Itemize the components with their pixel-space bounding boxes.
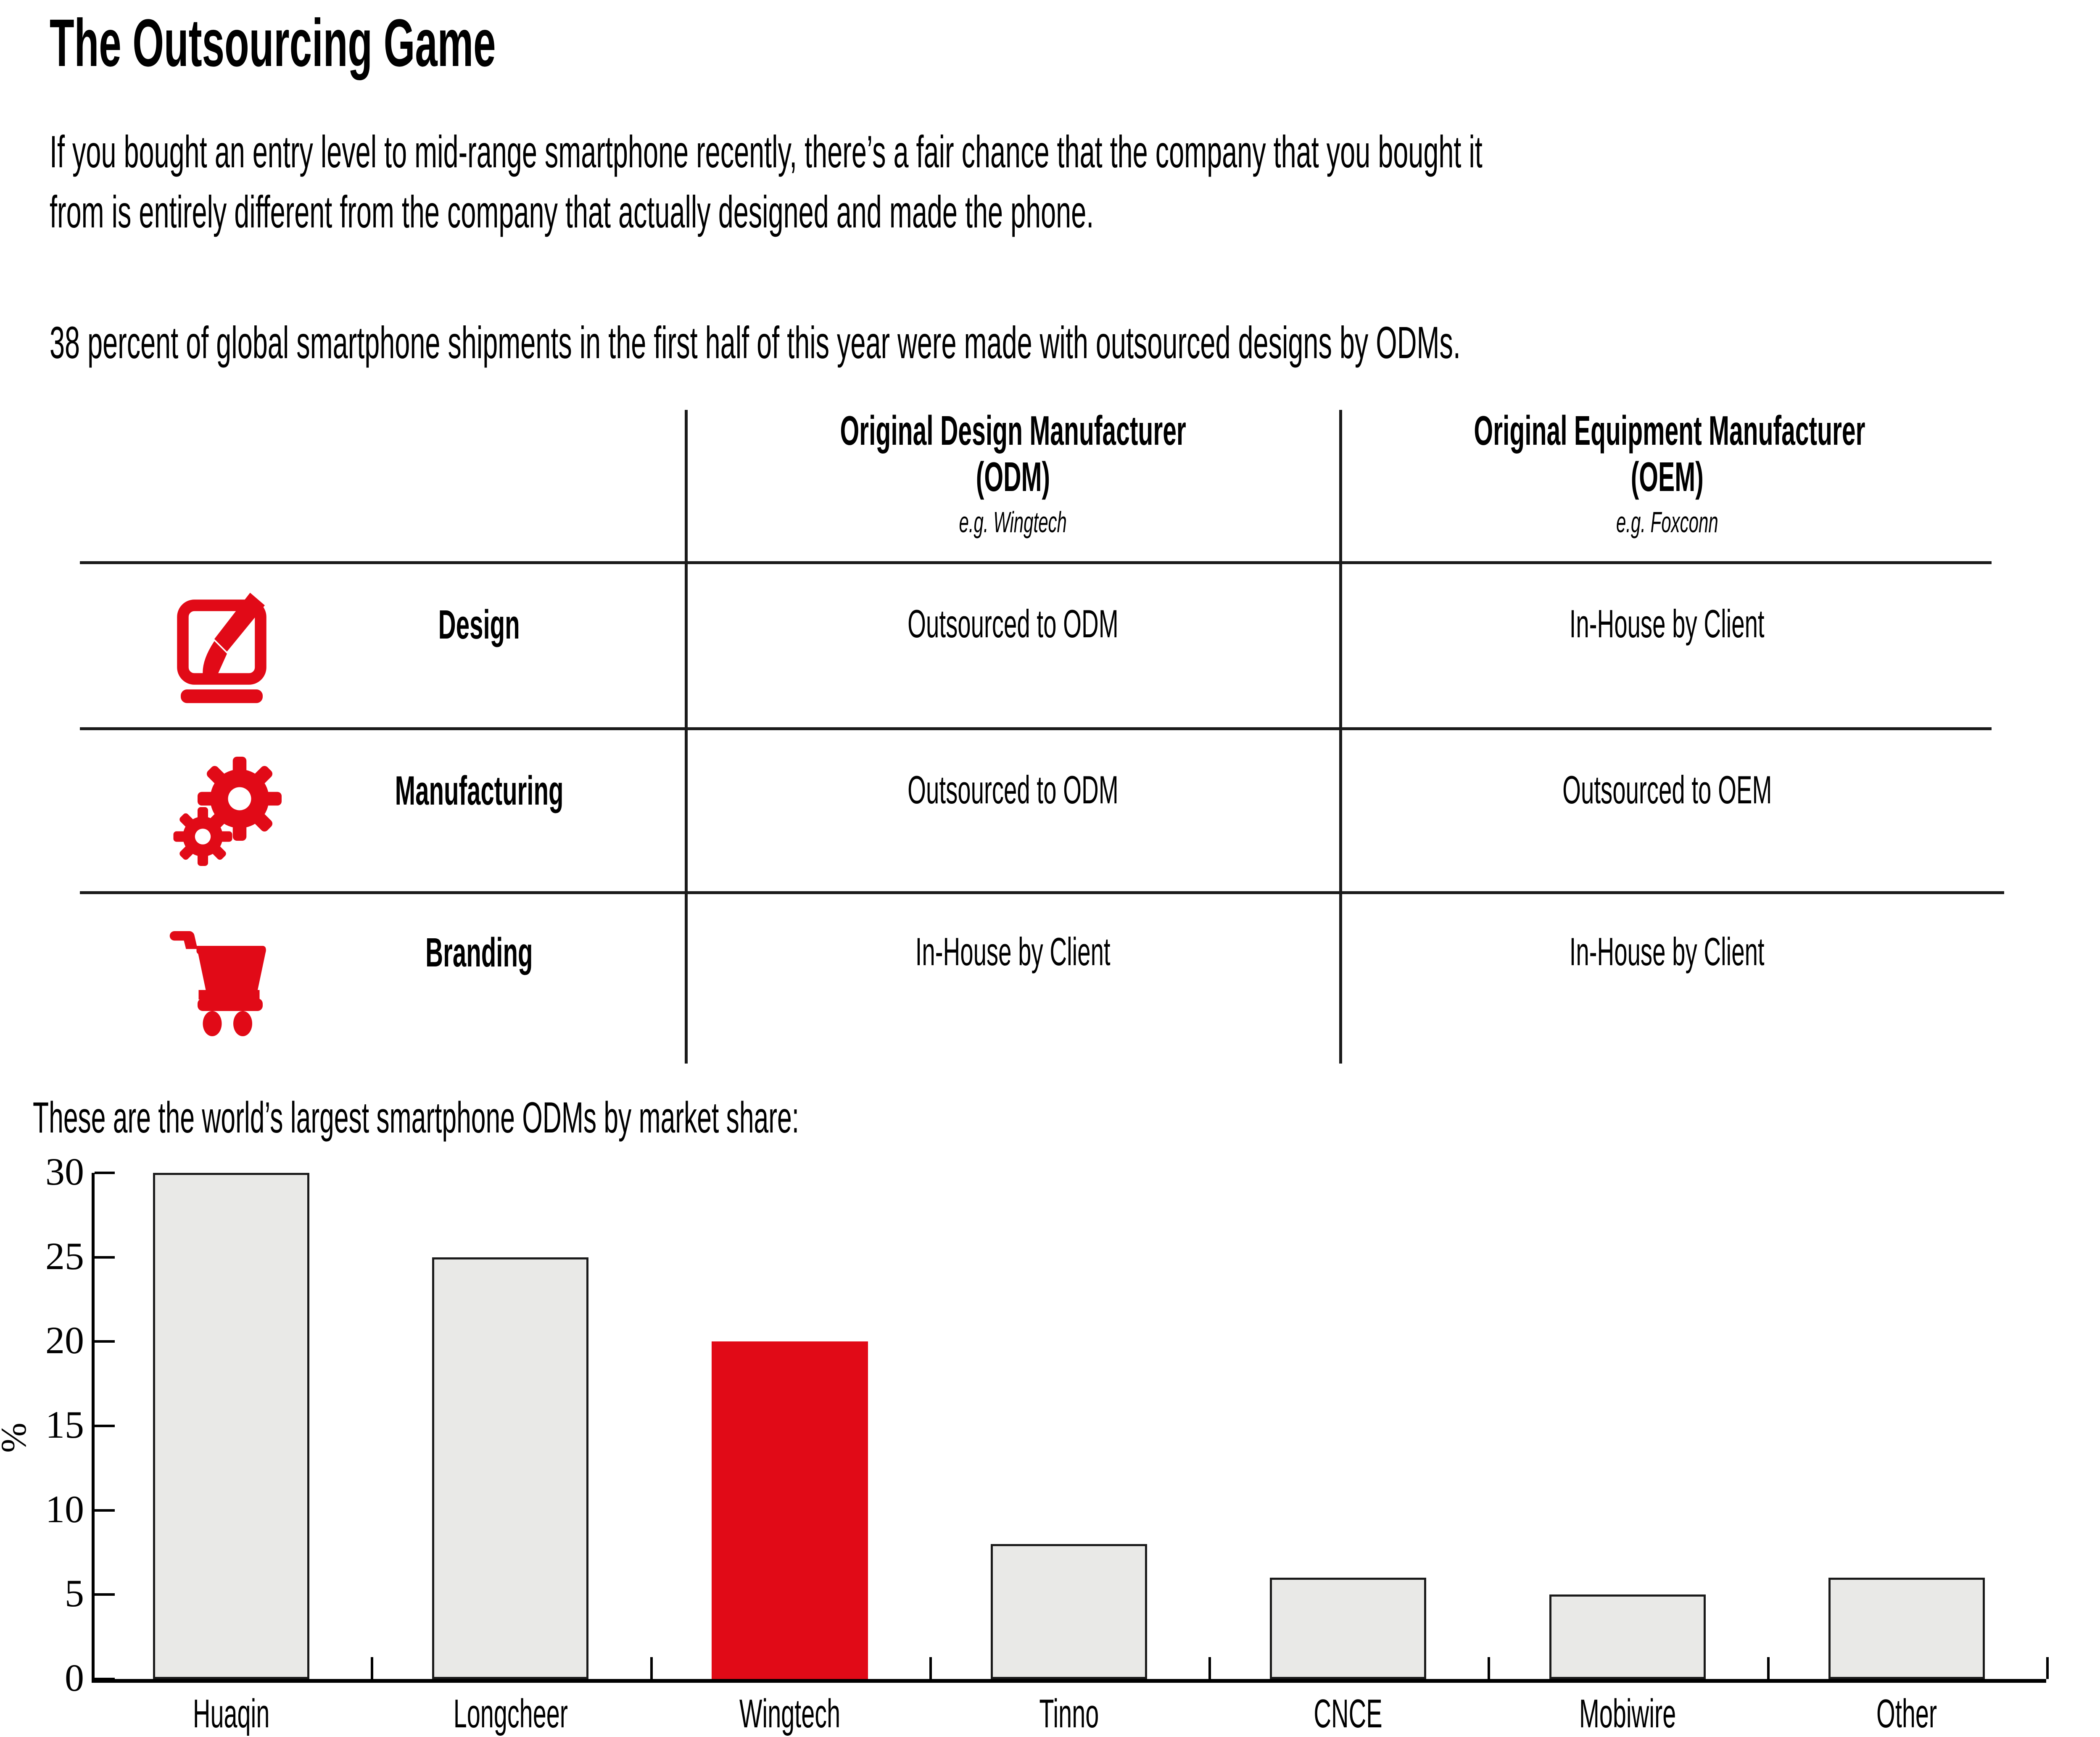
row-label-design: Design <box>319 601 639 648</box>
y-tick-25 <box>95 1256 115 1259</box>
lede-line-2: from is entirely different from the comp… <box>50 182 1094 242</box>
y-tick-label-25: 25 <box>0 1234 84 1278</box>
cell-design-odm: Outsourced to ODM <box>689 601 1337 647</box>
table-header-oem: Original Equipment Manufacturer (OEM) e.… <box>1343 408 1991 539</box>
cell-design-oem: In-House by Client <box>1343 601 1991 647</box>
x-tick-4 <box>1488 1657 1490 1679</box>
y-tick-20 <box>95 1340 115 1343</box>
y-tick-10 <box>95 1509 115 1512</box>
table-header-oem-example: e.g. Foxconn <box>1616 505 1718 539</box>
y-axis-line <box>92 1173 95 1682</box>
x-tick-1 <box>650 1657 653 1679</box>
table-column-divider-2 <box>1339 410 1342 1064</box>
x-axis-line <box>92 1679 2046 1683</box>
y-tick-label-15: 15 <box>0 1402 84 1447</box>
bar-cnce <box>1270 1578 1426 1679</box>
y-tick-label-10: 10 <box>0 1487 84 1531</box>
x-tick-5 <box>1767 1657 1770 1679</box>
cell-branding-odm-text: In-House by Client <box>915 929 1111 974</box>
bar-wingtech <box>712 1341 868 1679</box>
x-tick-label-text: Other <box>1876 1691 1937 1737</box>
x-tick-label-cnce: CNCE <box>1208 1691 1488 1737</box>
page-title-text: The Outsourcing Game <box>50 9 496 77</box>
y-tick-label-0: 0 <box>0 1655 84 1700</box>
x-tick-end <box>2046 1657 2049 1679</box>
x-tick-label-text: Mobiwire <box>1579 1691 1675 1737</box>
cell-branding-oem: In-House by Client <box>1343 929 1991 974</box>
cell-manufacturing-oem-text: Outsourced to OEM <box>1562 767 1772 813</box>
cell-manufacturing-odm-text: Outsourced to ODM <box>908 767 1119 813</box>
table-column-divider-1 <box>685 410 688 1064</box>
page-title: The Outsourcing Game <box>50 9 793 77</box>
y-tick-label-20: 20 <box>0 1318 84 1362</box>
lede-line-1: If you bought an entry level to mid-rang… <box>50 122 1483 182</box>
comparison-table: Original Design Manufacturer (ODM) e.g. … <box>0 404 2100 1076</box>
cell-manufacturing-oem: Outsourced to OEM <box>1343 767 1991 813</box>
gears-icon <box>160 752 303 879</box>
y-tick-15 <box>95 1425 115 1427</box>
x-tick-label-text: Wingtech <box>739 1691 840 1737</box>
x-tick-3 <box>1208 1657 1211 1679</box>
bar-other <box>1828 1578 1985 1679</box>
x-tick-label-text: Huaqin <box>193 1691 270 1737</box>
row-label-branding-text: Branding <box>425 929 533 976</box>
row-label-manufacturing-text: Manufacturing <box>395 767 564 814</box>
x-tick-label-wingtech: Wingtech <box>650 1691 929 1737</box>
lede-paragraph: If you bought an entry level to mid-rang… <box>50 122 2100 242</box>
x-tick-label-tinno: Tinno <box>929 1691 1208 1737</box>
stat-text: 38 percent of global smartphone shipment… <box>50 313 1461 372</box>
x-tick-label-text: Longcheer <box>453 1691 567 1737</box>
row-label-branding: Branding <box>319 929 639 976</box>
bar-tinno <box>991 1544 1147 1679</box>
cell-manufacturing-odm: Outsourced to ODM <box>689 767 1337 813</box>
table-row-divider-1 <box>80 561 1992 564</box>
shopping-cart-icon <box>160 914 303 1040</box>
x-tick-label-mobiwire: Mobiwire <box>1488 1691 1767 1737</box>
x-tick-label-huaqin: Huaqin <box>92 1691 371 1737</box>
odm-market-share-bar-chart: % 051015202530 HuaqinLongcheerWingtechTi… <box>0 1164 2100 1736</box>
x-tick-2 <box>929 1657 932 1679</box>
cell-design-odm-text: Outsourced to ODM <box>908 601 1119 647</box>
table-header-oem-line1: Original Equipment Manufacturer <box>1474 408 1865 454</box>
y-tick-5 <box>95 1593 115 1596</box>
cell-branding-odm: In-House by Client <box>689 929 1337 974</box>
table-row-divider-2 <box>80 727 1992 730</box>
y-tick-label-30: 30 <box>0 1149 84 1194</box>
table-header-odm-example: e.g. Wingtech <box>959 505 1067 539</box>
y-tick-label-5: 5 <box>0 1571 84 1616</box>
table-header-odm: Original Design Manufacturer (ODM) e.g. … <box>689 408 1337 539</box>
table-header-odm-line1: Original Design Manufacturer <box>840 408 1186 454</box>
stat-paragraph: 38 percent of global smartphone shipment… <box>50 313 2100 372</box>
y-tick-30 <box>95 1172 115 1174</box>
bar-longcheer <box>432 1257 588 1679</box>
bar-mobiwire <box>1549 1594 1706 1679</box>
x-tick-label-longcheer: Longcheer <box>371 1691 650 1737</box>
chart-caption: These are the world’s largest smartphone… <box>33 1093 1310 1143</box>
cell-design-oem-text: In-House by Client <box>1570 601 1765 647</box>
x-tick-label-other: Other <box>1767 1691 2046 1737</box>
x-tick-label-text: CNCE <box>1314 1691 1382 1737</box>
table-row-divider-3 <box>80 891 2004 894</box>
row-label-manufacturing: Manufacturing <box>319 767 639 814</box>
table-header-odm-line2: (ODM) <box>976 454 1050 500</box>
y-tick-0 <box>95 1678 115 1680</box>
row-label-design-text: Design <box>438 601 520 648</box>
table-header-oem-line2: (OEM) <box>1630 454 1703 500</box>
x-tick-label-text: Tinno <box>1039 1691 1099 1737</box>
design-tablet-brush-icon <box>160 586 303 713</box>
x-tick-0 <box>371 1657 373 1679</box>
chart-caption-text: These are the world’s largest smartphone… <box>33 1093 799 1143</box>
cell-branding-oem-text: In-House by Client <box>1570 929 1765 974</box>
bar-huaqin <box>153 1173 309 1679</box>
